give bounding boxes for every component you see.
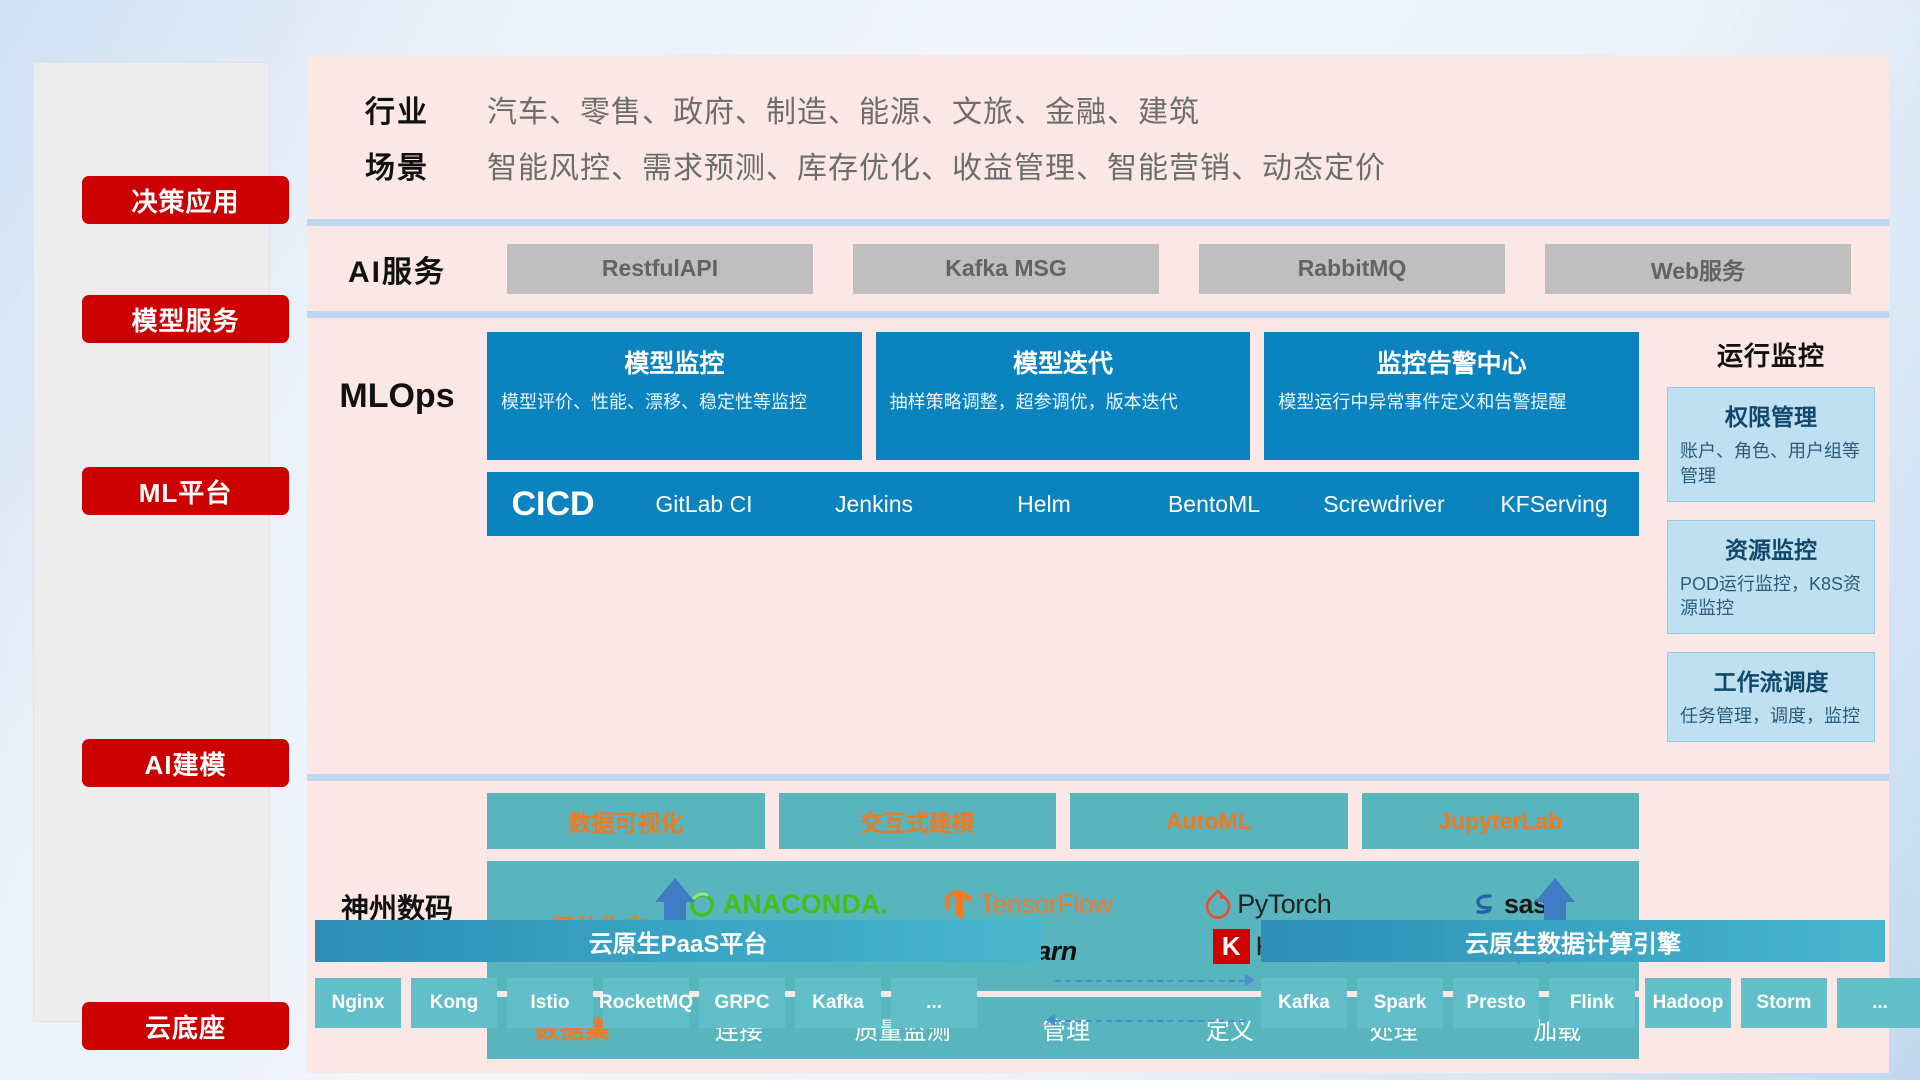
ai-service-label: AI服务 [307, 247, 487, 291]
card-desc: 任务管理，调度，监控 [1680, 704, 1862, 729]
cicd-title: CICD [487, 485, 619, 524]
mlops-left: MLOps 模型监控 模型评价、性能、漂移、稳定性等监控 模型迭代 抽样策略调整… [307, 318, 1647, 774]
service-chip-restfulapi[interactable]: RestfulAPI [507, 244, 813, 294]
paas-arrow-head [655, 878, 695, 902]
tier-pill-decision[interactable]: 决策应用 [82, 176, 289, 224]
monitor-card-resources[interactable]: 资源监控 POD运行监控，K8S资源监控 [1667, 520, 1875, 635]
cicd-item-gitlab-ci[interactable]: GitLab CI [619, 493, 789, 516]
card-desc: 模型运行中异常事件定义和告警提醒 [1278, 390, 1625, 415]
tool-chip-interactive-modeling[interactable]: 交互式建模 [779, 793, 1057, 849]
tool-chip-jupyterlab[interactable]: JupyterLab [1362, 793, 1640, 849]
tier-label: ML平台 [139, 473, 233, 510]
cicd-item-screwdriver[interactable]: Screwdriver [1299, 493, 1469, 516]
mlops-label: MLOps [307, 332, 487, 460]
tier-pill-cloud-base[interactable]: 云底座 [82, 1002, 289, 1050]
data-chip-row: Kafka Spark Presto Flink Hadoop Storm ..… [1261, 978, 1920, 1028]
mlops-row: MLOps 模型监控 模型评价、性能、漂移、稳定性等监控 模型迭代 抽样策略调整… [307, 332, 1647, 460]
paas-chip-kong[interactable]: Kong [411, 978, 497, 1028]
cloud-bar-paas[interactable]: 云原生PaaS平台 [315, 920, 1041, 962]
monitor-card-workflow[interactable]: 工作流调度 任务管理，调度，监控 [1667, 652, 1875, 742]
card-desc: 账户、角色、用户组等管理 [1680, 439, 1862, 489]
industry-row: 行业 汽车、零售、政府、制造、能源、文旅、金融、建筑 [307, 81, 1889, 137]
tool-chip-data-visualization[interactable]: 数据可视化 [487, 793, 765, 849]
card-title: 资源监控 [1680, 531, 1862, 565]
card-title: 监控告警中心 [1278, 344, 1625, 380]
service-chip-web[interactable]: Web服务 [1545, 244, 1851, 294]
scenario-label: 场景 [307, 143, 487, 187]
tier-rail: 决策应用 模型服务 ML平台 AI建模 云底座 [33, 62, 270, 1022]
cloud-base-section: 云原生PaaS平台 云原生数据计算引擎 Nginx Kong Istio Roc… [307, 880, 1889, 1055]
card-title: 模型迭代 [890, 344, 1237, 380]
card-desc: 抽样策略调整，超参调优，版本迭代 [890, 390, 1237, 415]
data-arrow-head [1535, 878, 1575, 902]
ai-service-band: AI服务 RestfulAPI Kafka MSG RabbitMQ Web服务 [307, 219, 1889, 311]
cicd-item-bentoml[interactable]: BentoML [1129, 493, 1299, 516]
link-arrow-left [1045, 1014, 1055, 1026]
card-title: 模型监控 [501, 344, 848, 380]
data-chip-flink[interactable]: Flink [1549, 978, 1635, 1028]
mlops-card-alert-center[interactable]: 监控告警中心 模型运行中异常事件定义和告警提醒 [1264, 332, 1639, 460]
scenario-value: 智能风控、需求预测、库存优化、收益管理、智能营销、动态定价 [487, 143, 1386, 187]
scenario-row: 场景 智能风控、需求预测、库存优化、收益管理、智能营销、动态定价 [307, 137, 1889, 193]
data-chip-kafka[interactable]: Kafka [1261, 978, 1347, 1028]
monitor-panel: 运行监控 权限管理 账户、角色、用户组等管理 资源监控 POD运行监控，K8S资… [1647, 318, 1889, 774]
service-chip-kafka-msg[interactable]: Kafka MSG [853, 244, 1159, 294]
tier-label: 云底座 [145, 1008, 226, 1045]
data-chip-hadoop[interactable]: Hadoop [1645, 978, 1731, 1028]
industry-value: 汽车、零售、政府、制造、能源、文旅、金融、建筑 [487, 87, 1200, 131]
ai-service-items: RestfulAPI Kafka MSG RabbitMQ Web服务 [487, 244, 1889, 294]
cicd-item-kfserving[interactable]: KFServing [1469, 493, 1639, 516]
cicd-item-helm[interactable]: Helm [959, 493, 1129, 516]
paas-chip-nginx[interactable]: Nginx [315, 978, 401, 1028]
tier-pill-model-service[interactable]: 模型服务 [82, 295, 289, 343]
card-title: 工作流调度 [1680, 663, 1862, 697]
link-arrow-right [1245, 974, 1255, 986]
paas-chip-more[interactable]: ... [891, 978, 977, 1028]
cicd-item-jenkins[interactable]: Jenkins [789, 493, 959, 516]
tier-label: 模型服务 [131, 301, 239, 338]
tier-label: 决策应用 [131, 182, 239, 219]
mlops-card-model-iteration[interactable]: 模型迭代 抽样策略调整，超参调优，版本迭代 [876, 332, 1251, 460]
mlops-cards: 模型监控 模型评价、性能、漂移、稳定性等监控 模型迭代 抽样策略调整，超参调优，… [487, 332, 1647, 460]
mlops-card-model-monitoring[interactable]: 模型监控 模型评价、性能、漂移、稳定性等监控 [487, 332, 862, 460]
paas-chip-row: Nginx Kong Istio RocketMQ GRPC Kafka ... [315, 978, 977, 1028]
tool-chip-automl[interactable]: AutoML [1070, 793, 1348, 849]
link-dashed-bottom [1055, 1020, 1245, 1022]
bar-label: 云原生数据计算引擎 [1465, 924, 1681, 959]
tier-pill-ml-platform[interactable]: ML平台 [82, 467, 289, 515]
paas-chip-grpc[interactable]: GRPC [699, 978, 785, 1028]
monitor-panel-title: 运行监控 [1717, 336, 1825, 373]
card-desc: POD运行监控，K8S资源监控 [1680, 572, 1862, 622]
paas-chip-istio[interactable]: Istio [507, 978, 593, 1028]
paas-chip-rocketmq[interactable]: RocketMQ [603, 978, 689, 1028]
service-chip-rabbitmq[interactable]: RabbitMQ [1199, 244, 1505, 294]
cicd-strip: CICD GitLab CI Jenkins Helm BentoML Scre… [487, 472, 1639, 536]
card-title: 权限管理 [1680, 398, 1862, 432]
paas-chip-kafka[interactable]: Kafka [795, 978, 881, 1028]
ml-lab-tool-chips: 数据可视化 交互式建模 AutoML JupyterLab [487, 793, 1639, 849]
data-chip-storm[interactable]: Storm [1741, 978, 1827, 1028]
tier-label: AI建模 [144, 745, 226, 782]
link-dashed-top [1055, 980, 1245, 982]
industry-scenario-band: 行业 汽车、零售、政府、制造、能源、文旅、金融、建筑 场景 智能风控、需求预测、… [307, 55, 1889, 219]
mlops-band: MLOps 模型监控 模型评价、性能、漂移、稳定性等监控 模型迭代 抽样策略调整… [307, 311, 1889, 774]
architecture-diagram: 决策应用 模型服务 ML平台 AI建模 云底座 行业 汽车、零售、政府、制造、能… [0, 0, 1920, 1080]
tier-pill-ai-modeling[interactable]: AI建模 [82, 739, 289, 787]
data-chip-more[interactable]: ... [1837, 978, 1920, 1028]
monitor-card-permissions[interactable]: 权限管理 账户、角色、用户组等管理 [1667, 387, 1875, 502]
cloud-bar-data-engine[interactable]: 云原生数据计算引擎 [1261, 920, 1885, 962]
industry-label: 行业 [307, 87, 487, 131]
card-desc: 模型评价、性能、漂移、稳定性等监控 [501, 390, 848, 415]
bar-label: 云原生PaaS平台 [589, 924, 768, 959]
data-chip-spark[interactable]: Spark [1357, 978, 1443, 1028]
data-chip-presto[interactable]: Presto [1453, 978, 1539, 1028]
